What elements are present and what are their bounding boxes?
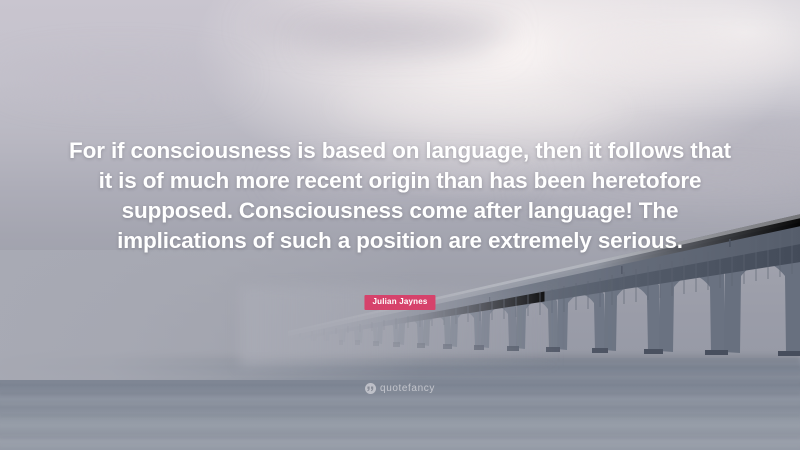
quote-card: For if consciousness is based on languag…: [0, 0, 800, 450]
quote-mark-icon: [365, 383, 376, 394]
quote-text: For if consciousness is based on languag…: [60, 136, 740, 256]
watermark[interactable]: quotefancy: [365, 383, 435, 394]
watermark-brand: quotefancy: [380, 383, 435, 394]
author-badge[interactable]: Julian Jaynes: [364, 295, 435, 310]
